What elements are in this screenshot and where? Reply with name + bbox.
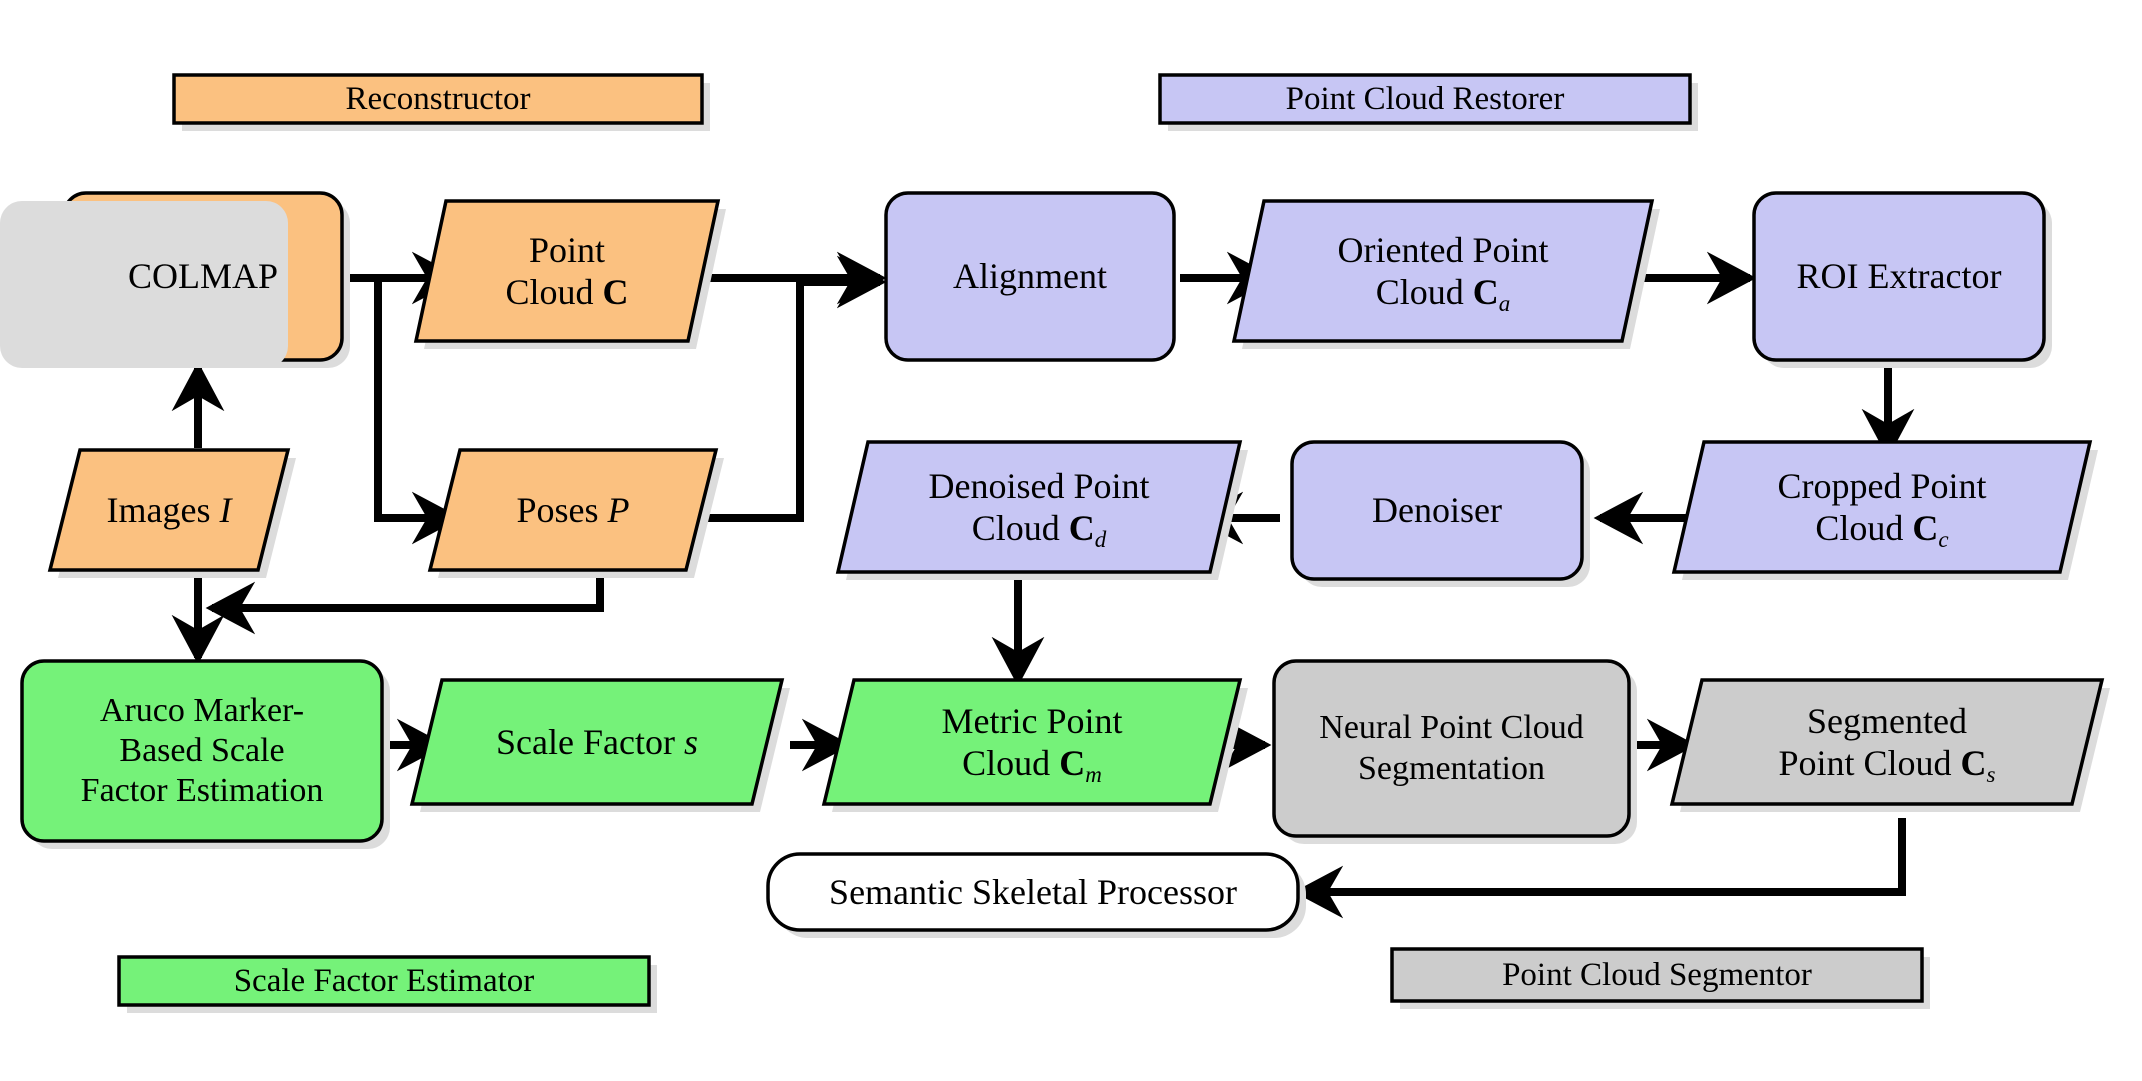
aruco-line-1: Aruco Marker- (100, 692, 304, 729)
legend-label-point-cloud-restorer: Point Cloud Restorer (1160, 75, 1690, 123)
dpc-subscript: d (1095, 526, 1107, 552)
node-label-alignment: Alignment (886, 193, 1174, 360)
node-label-semantic-skeletal-processor: Semantic Skeletal Processor (768, 854, 1298, 930)
node-label-cropped-point-cloud: Cropped Point Cloud Cc (1674, 442, 2090, 572)
node-label-neural-point-cloud-segmentation: Neural Point Cloud Segmentation (1274, 661, 1629, 836)
node-label-scale-factor: Scale Factor s (412, 680, 782, 804)
spc-subscript: s (1987, 761, 1996, 787)
node-label-point-cloud-c: Point Cloud C (416, 201, 718, 341)
legend-label-reconstructor: Reconstructor (174, 75, 702, 123)
node-label-segmented-point-cloud: Segmented Point Cloud Cs (1672, 680, 2102, 804)
node-label-oriented-point-cloud: Oriented Point Cloud Ca (1234, 201, 1652, 341)
aruco-line-3: Factor Estimation (81, 772, 324, 809)
pcc-line-2: Cloud C (505, 272, 628, 312)
poses-symbol: P (608, 490, 630, 530)
node-label-colmap: COLMAP (64, 193, 342, 360)
opc-line-1: Oriented Point (1338, 230, 1549, 270)
legend-label-scale-factor-estimator: Scale Factor Estimator (119, 957, 649, 1005)
legend-label-point-cloud-segmentor: Point Cloud Segmentor (1392, 949, 1922, 1001)
mpc-subscript: m (1085, 761, 1102, 787)
cpc-line-2: Cloud Cc (1815, 508, 1948, 548)
scale-factor-symbol: s (684, 722, 698, 762)
mpc-line-2: Cloud Cm (962, 743, 1102, 783)
spc-line-2: Point Cloud Cs (1778, 743, 1995, 783)
aruco-line-2: Based Scale (119, 732, 284, 769)
opc-line-2: Cloud Ca (1376, 272, 1511, 312)
node-label-denoiser: Denoiser (1292, 442, 1582, 579)
node-label-poses: Poses P (430, 450, 716, 570)
dpc-line-2: Cloud Cd (972, 508, 1107, 548)
npcs-line-2: Segmentation (1358, 750, 1545, 787)
node-label-aruco-marker-scale: Aruco Marker- Based Scale Factor Estimat… (22, 661, 382, 841)
pcc-line-1: Point (529, 230, 605, 270)
opc-subscript: a (1499, 290, 1511, 316)
node-label-images: Images I (50, 450, 288, 570)
npcs-line-1: Neural Point Cloud (1319, 709, 1583, 746)
spc-line-1: Segmented (1807, 701, 1967, 741)
cpc-subscript: c (1938, 526, 1948, 552)
node-label-roi-extractor: ROI Extractor (1754, 193, 2044, 360)
node-label-denoised-point-cloud: Denoised Point Cloud Cd (838, 442, 1240, 572)
dpc-line-1: Denoised Point (929, 466, 1150, 506)
node-label-metric-point-cloud: Metric Point Cloud Cm (824, 680, 1240, 804)
flowchart-canvas: Reconstructor Point Cloud Restorer Scale… (0, 0, 2142, 1081)
cpc-line-1: Cropped Point (1777, 466, 1986, 506)
images-symbol: I (219, 490, 231, 530)
mpc-line-1: Metric Point (942, 701, 1123, 741)
